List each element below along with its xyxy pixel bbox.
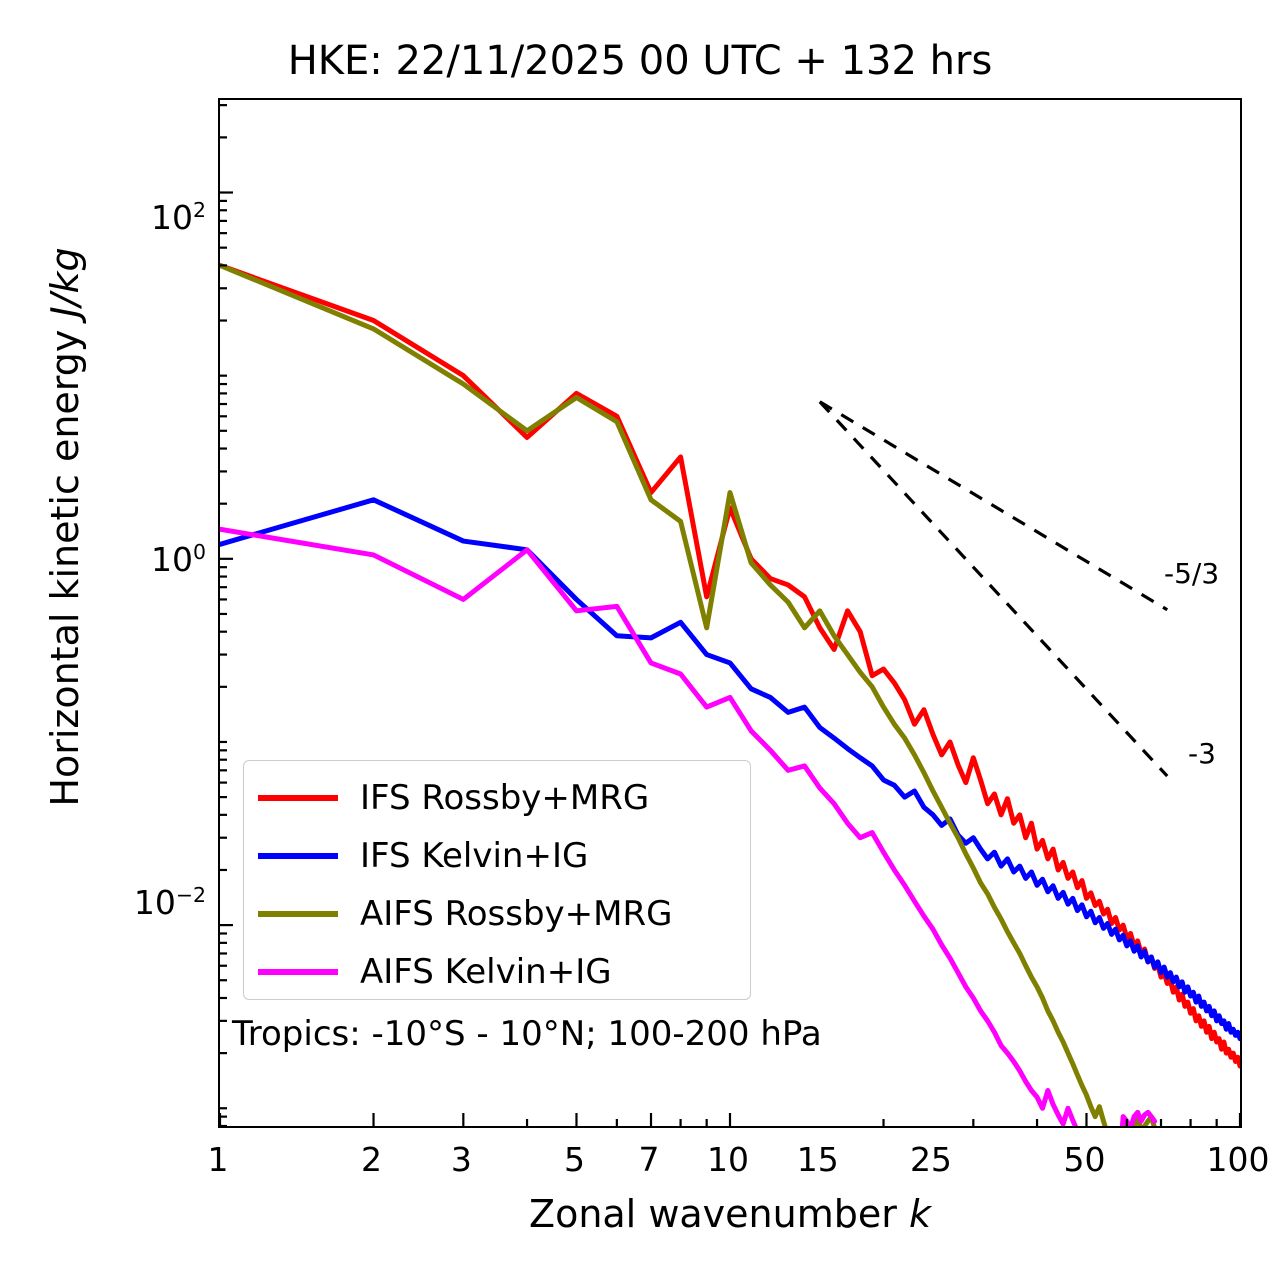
- x-tick-label-7: 7: [639, 1140, 660, 1179]
- y-tick-label-group: 102 100 10−2: [0, 0, 206, 1288]
- x-tick-label-5: 5: [564, 1140, 585, 1179]
- legend-swatch-ifs-rossby-mrg: [258, 795, 338, 801]
- legend-label-ifs-kelvin-ig: IFS Kelvin+IG: [360, 836, 588, 876]
- slope-5-3-label: -5/3: [1164, 557, 1219, 590]
- legend-label-aifs-rossby-mrg: AIFS Rossby+MRG: [360, 894, 672, 934]
- x-tick-label-1: 1: [208, 1140, 229, 1179]
- x-tick-label-15: 15: [797, 1140, 839, 1179]
- x-tick-label-25: 25: [910, 1140, 952, 1179]
- y-tick-label-1e2: 102: [151, 198, 206, 237]
- y-tick-label-1e-2: 10−2: [134, 883, 206, 922]
- x-tick-label-100: 100: [1207, 1140, 1270, 1179]
- slope-3-label: -3: [1188, 737, 1216, 770]
- reference-slope-lines: [820, 402, 1167, 776]
- slope-line-3: [820, 402, 1167, 776]
- legend: IFS Rossby+MRG IFS Kelvin+IG AIFS Rossby…: [243, 760, 751, 1000]
- legend-label-ifs-rossby-mrg: IFS Rossby+MRG: [360, 778, 649, 818]
- x-axis-label: Zonal wavenumber k: [218, 1192, 1242, 1236]
- region-annotation: Tropics: -10°S - 10°N; 100-200 hPa: [232, 1014, 822, 1054]
- legend-item-aifs-kelvin-ig[interactable]: AIFS Kelvin+IG: [258, 943, 612, 1001]
- y-tick-label-1e0: 100: [151, 540, 206, 579]
- x-tick-label-10: 10: [707, 1140, 749, 1179]
- legend-item-ifs-kelvin-ig[interactable]: IFS Kelvin+IG: [258, 827, 588, 885]
- x-tick-label-50: 50: [1063, 1140, 1105, 1179]
- legend-swatch-aifs-kelvin-ig: [258, 969, 338, 975]
- x-tick-label-3: 3: [451, 1140, 472, 1179]
- legend-swatch-aifs-rossby-mrg: [258, 911, 338, 917]
- legend-item-aifs-rossby-mrg[interactable]: AIFS Rossby+MRG: [258, 885, 672, 943]
- legend-item-ifs-rossby-mrg[interactable]: IFS Rossby+MRG: [258, 769, 649, 827]
- y-axis-label: Horizontal kinetic energy J/kg: [43, 77, 87, 977]
- legend-label-aifs-kelvin-ig: AIFS Kelvin+IG: [360, 952, 612, 992]
- figure-canvas: HKE: 22/11/2025 00 UTC + 132 hrs 102 100…: [0, 0, 1280, 1288]
- legend-swatch-ifs-kelvin-ig: [258, 853, 338, 859]
- x-tick-label-2: 2: [361, 1140, 382, 1179]
- slope-line-53: [820, 402, 1167, 610]
